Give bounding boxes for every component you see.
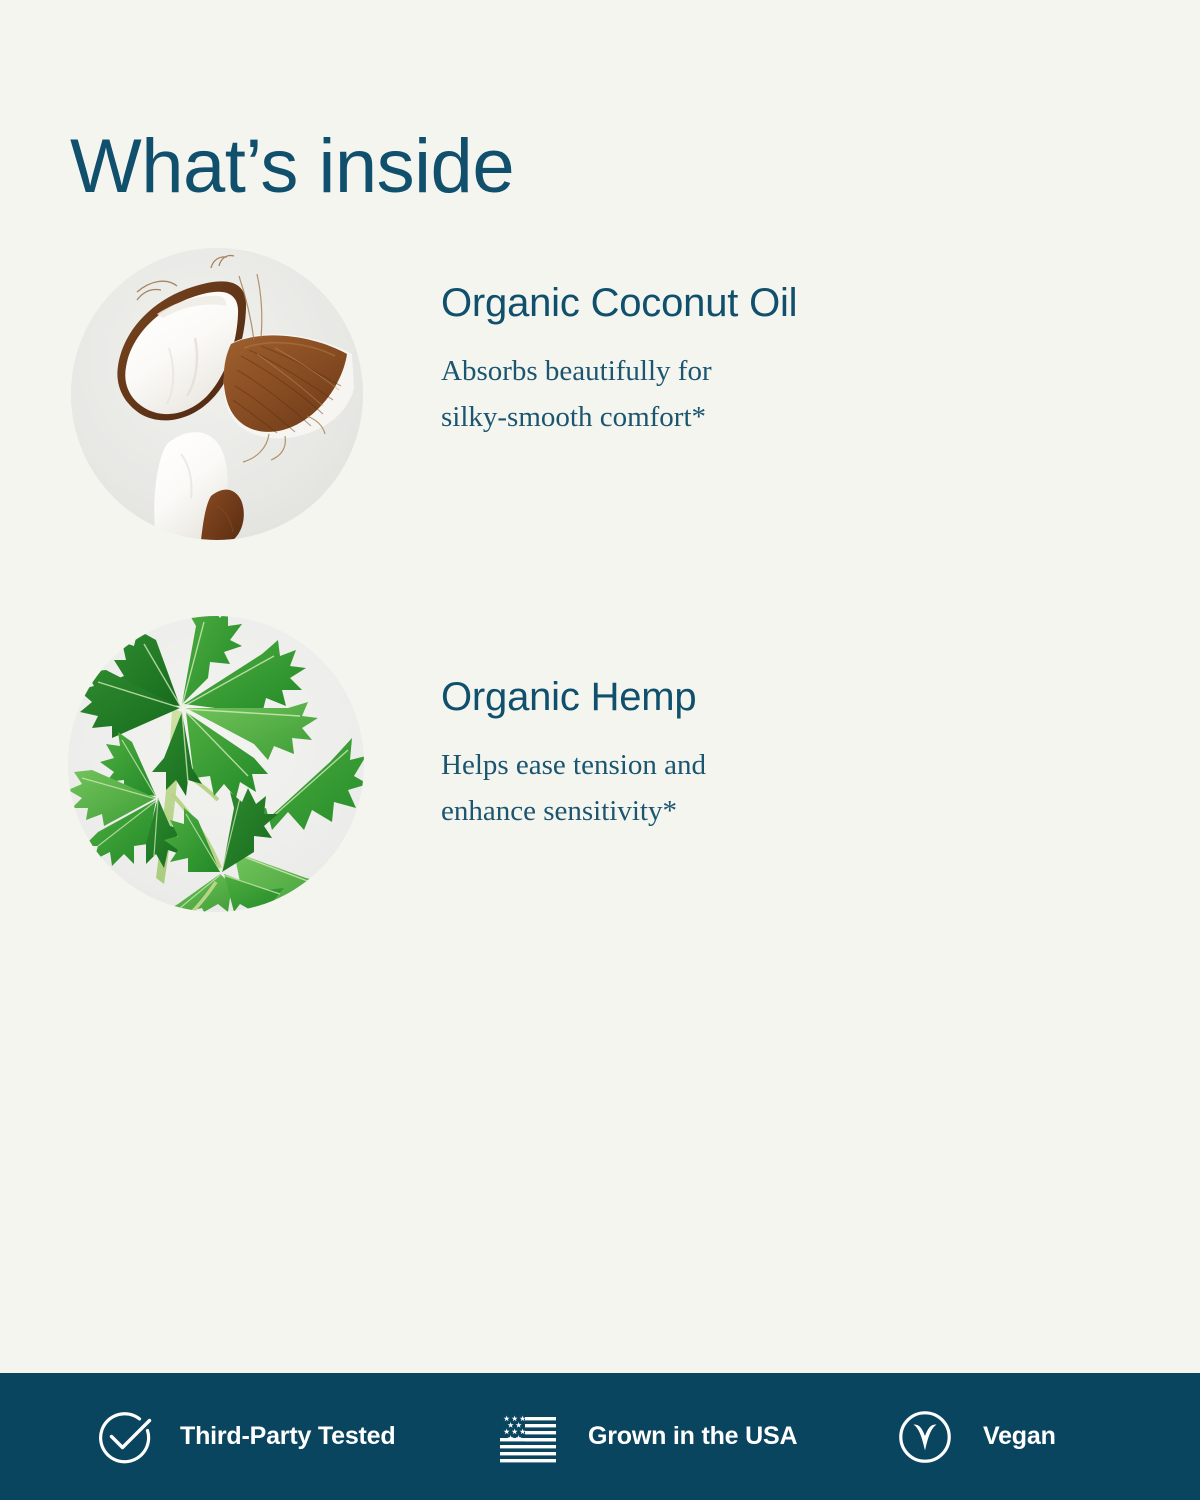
badge-label: Vegan <box>983 1422 1056 1451</box>
description-line: Absorbs beautifully for <box>441 348 841 394</box>
ingredient-title: Organic Coconut Oil <box>441 280 871 326</box>
ingredient-description: Helps ease tension and enhance sensitivi… <box>441 742 841 835</box>
check-circle-icon <box>98 1409 154 1465</box>
description-line: enhance sensitivity* <box>441 788 841 834</box>
badge-label: Grown in the USA <box>588 1422 797 1451</box>
whats-inside-panel: What’s inside <box>0 0 1200 1500</box>
description-line: silky-smooth comfort* <box>441 394 841 440</box>
trust-badge-bar: Third-Party Tested <box>0 1373 1200 1500</box>
usa-flag-icon <box>500 1409 556 1465</box>
badge-third-party-tested: Third-Party Tested <box>98 1373 395 1500</box>
ingredient-text-block: Organic Coconut Oil Absorbs beautifully … <box>441 280 871 441</box>
ingredient-description: Absorbs beautifully for silky-smooth com… <box>441 348 841 441</box>
ingredient-title: Organic Hemp <box>441 674 871 720</box>
badge-list: Third-Party Tested <box>0 1373 1200 1500</box>
badge-vegan: Vegan <box>897 1373 1056 1500</box>
page-title: What’s inside <box>70 127 514 207</box>
hemp-leaf-photo <box>68 616 364 912</box>
vegan-v-circle-icon <box>897 1409 953 1465</box>
coconut-photo <box>71 248 363 540</box>
ingredient-text-block: Organic Hemp Helps ease tension and enha… <box>441 674 871 835</box>
badge-grown-in-usa: Grown in the USA <box>500 1373 797 1500</box>
badge-label: Third-Party Tested <box>180 1422 395 1451</box>
description-line: Helps ease tension and <box>441 742 841 788</box>
